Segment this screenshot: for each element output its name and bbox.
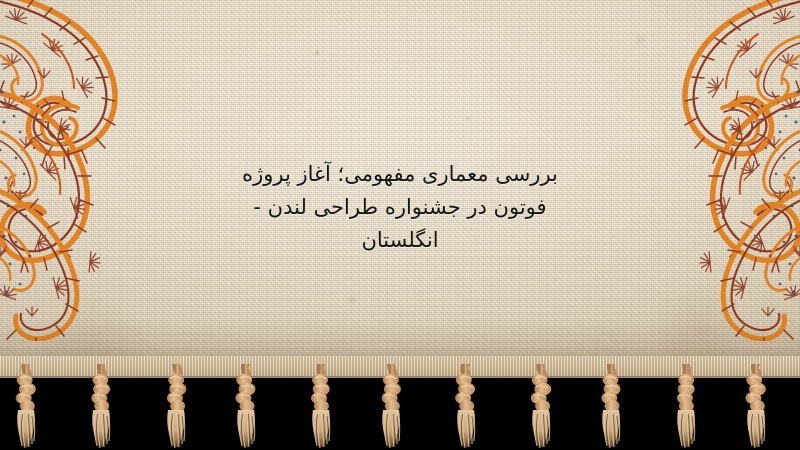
title-line-3: انگلستان xyxy=(160,224,640,257)
tassel xyxy=(734,364,778,450)
slide-title: بررسی معماری مفهومی؛ آغاز پروژه فوتون در… xyxy=(160,158,640,257)
tassel xyxy=(444,364,488,450)
tassel xyxy=(664,364,708,450)
tassel xyxy=(4,364,48,450)
tassel xyxy=(369,364,413,450)
slide-canvas: بررسی معماری مفهومی؛ آغاز پروژه فوتون در… xyxy=(0,0,800,450)
tassel xyxy=(224,364,268,450)
title-line-2: فوتون در جشنواره طراحی لندن - xyxy=(160,191,640,224)
tassel xyxy=(154,364,198,450)
tassel xyxy=(79,364,123,450)
tassel xyxy=(589,364,633,450)
tassel-fringe xyxy=(0,356,800,450)
tassel xyxy=(519,364,563,450)
tassel xyxy=(299,364,343,450)
title-line-1: بررسی معماری مفهومی؛ آغاز پروژه xyxy=(160,158,640,191)
